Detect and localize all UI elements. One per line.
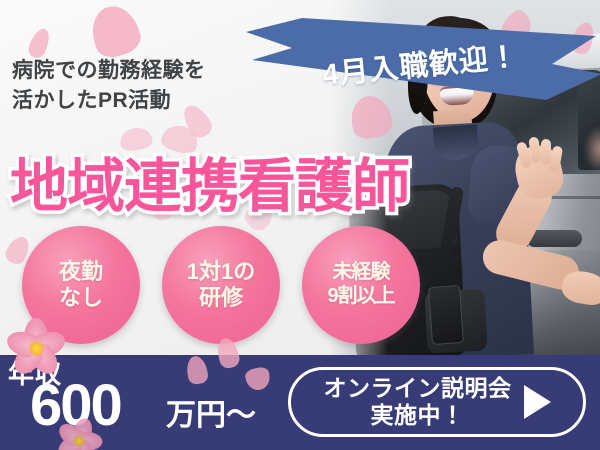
page-title: 地域連携看護師 [10,139,409,223]
sakura-petal-icon [85,0,144,62]
cta-label: オンライン説明会 実施中！ [324,375,512,429]
status-badge: 1対1の 研修 [162,226,280,344]
sakura-petal-icon [26,26,53,60]
status-badge: 未経験 9割以上 [302,226,420,344]
sakura-flower-icon [58,420,100,450]
badge-line-1: 未経験 [333,261,390,285]
salary-unit: 万円〜 [166,401,256,431]
badge-line-1: 1対1の [187,259,255,285]
badge-line-1: 夜勤 [59,259,103,285]
badge-line-2: 9割以上 [327,285,394,309]
online-briefing-button[interactable]: オンライン説明会 実施中！ [288,367,586,437]
phone [428,285,464,345]
subheadline: 病院での勤務経験を 活かしたPR活動 [12,56,206,116]
badge-line-2: 研修 [199,285,243,311]
ribbon-banner: 4月入職歓迎！ [246,18,600,100]
badge-line-2: なし [59,285,103,311]
play-triangle-icon [524,385,551,419]
feature-badges: 夜勤 なし 1対1の 研修 未経験 9割以上 [22,226,422,348]
sakura-flower-icon [8,320,64,376]
recruitment-banner: 4月入職歓迎！ 病院での勤務経験を 活かしたPR活動 地域連携看護師 夜勤 なし… [0,0,600,450]
